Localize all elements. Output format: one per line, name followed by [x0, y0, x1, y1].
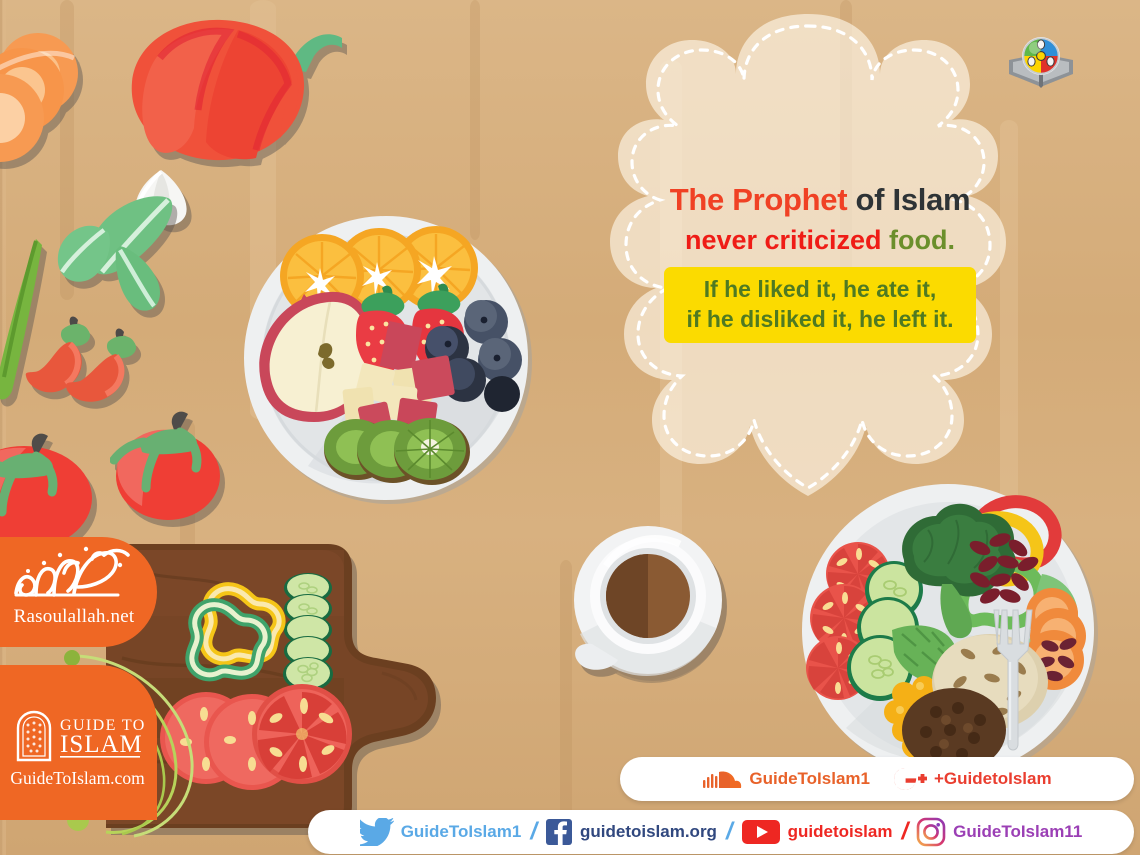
social-bar-top: GuideToIslam1 +GuidetoIslam: [620, 757, 1134, 801]
youtube-handle: guidetoislam: [788, 822, 893, 842]
youtube-icon: [741, 818, 781, 846]
social-link-googleplus[interactable]: +GuidetoIslam: [893, 766, 1052, 792]
guide-to-islam-site-label: GuideToIslam.com: [0, 768, 155, 789]
soundcloud-handle: GuideToIslam1: [749, 769, 870, 789]
social-link-facebook[interactable]: guidetoislam.org /: [545, 818, 735, 846]
social-link-youtube[interactable]: guidetoislam /: [741, 818, 911, 846]
wood-grain: [470, 0, 480, 240]
quote-highlight-box: If he liked it, he ate it, if he dislike…: [664, 267, 975, 344]
separator-slash: /: [901, 818, 908, 846]
twitter-icon: [360, 818, 394, 846]
facebook-icon: [545, 818, 573, 846]
guide-to-islam-wordmark-icon: GUIDE TO ISLAM: [14, 710, 144, 762]
twitter-handle: GuideToIslam1: [401, 822, 522, 842]
instagram-handle: GuideToIslam11: [953, 822, 1082, 842]
quote-highlight-line-2: if he disliked it, he left it.: [686, 304, 953, 334]
coffee-cup: [556, 524, 742, 682]
quote-highlight-line-1: If he liked it, he ate it,: [686, 274, 953, 304]
tomato-whole: [110, 400, 230, 525]
rasoulallah-arabic-calligraphy-icon: [8, 543, 138, 605]
guide-to-islam-logo-icon: [1005, 30, 1077, 92]
instagram-icon: [916, 817, 946, 847]
quote-line1-accent: The Prophet: [670, 182, 848, 217]
salad-plate: [796, 482, 1102, 778]
fruit-plate: [238, 208, 538, 508]
quote-line1-rest: of Islam: [847, 182, 970, 217]
facebook-handle: guidetoislam.org: [580, 822, 717, 842]
rasoulallah-site-label: Rasoulallah.net: [4, 606, 144, 628]
googleplus-handle: +GuidetoIslam: [934, 769, 1052, 789]
quote-line-2: never criticized food.: [560, 225, 1080, 256]
soundcloud-icon: [702, 767, 742, 791]
poster-canvas: Rasoulallah.net GUIDE TO ISLAM GuideToIs…: [0, 0, 1140, 855]
quote-line2-rest: food.: [882, 225, 955, 255]
social-link-twitter[interactable]: GuideToIslam1 /: [360, 818, 539, 846]
social-link-soundcloud[interactable]: GuideToIslam1: [702, 767, 870, 791]
quote-line2-accent: never criticized: [685, 225, 882, 255]
separator-slash: /: [530, 818, 537, 846]
svg-text:ISLAM: ISLAM: [60, 731, 143, 758]
google-plus-icon: [893, 766, 927, 792]
quote-block: The Prophet of Islam never criticized fo…: [560, 182, 1080, 343]
carrot-slices: [0, 28, 108, 178]
tomato-whole: [0, 420, 112, 555]
separator-slash: /: [726, 818, 733, 846]
social-bar-bottom: GuideToIslam1 / guidetoislam.org / guide…: [308, 810, 1134, 854]
quote-line-1: The Prophet of Islam: [560, 182, 1080, 218]
basil-leaves: [56, 192, 184, 314]
social-link-instagram[interactable]: GuideToIslam11: [916, 817, 1082, 847]
bell-pepper-red: [110, 10, 345, 175]
